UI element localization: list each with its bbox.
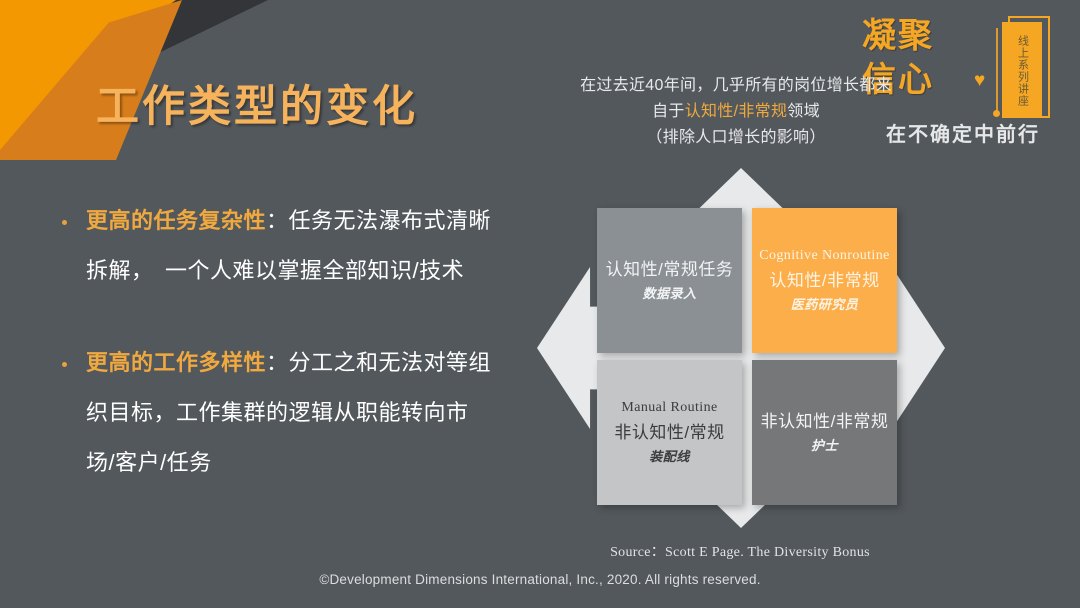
copyright-footer: ©Development Dimensions International, I… [0,572,1080,587]
matrix-caption: 在过去近40年间，几乎所有的岗位增长都来自于认知性/非常规领域 （排除人口增长的… [576,73,896,151]
source-citation: Source：Scott E Page. The Diversity Bonus [560,541,920,561]
logo-dot [993,110,1000,117]
bullet-2-separator: ： [266,350,289,375]
bullet-list: 更高的任务复杂性：任务无法瀑布式清晰拆解， 一个人难以掌握全部知识/技术 更高的… [56,196,496,530]
quadrant-example: 数据录入 [642,283,696,305]
bullet-item-1: 更高的任务复杂性：任务无法瀑布式清晰拆解， 一个人难以掌握全部知识/技术 [56,196,496,296]
quadrant-en-label: Cognitive Nonroutine [759,245,890,267]
slide-root: 工作类型的变化 凝聚 信心 ♥ 线上系列讲座 在不确定中前行 更高的任务复杂性：… [0,0,1080,608]
matrix-quadrant-top-right[interactable]: Cognitive Nonroutine 认知性/非常规 医药研究员 [752,208,897,353]
heart-icon: ♥ [974,70,996,92]
quadrant-cn-label: 非认知性/非常规 [761,409,889,435]
caption-highlight: 认知性/非常规 [685,103,788,120]
quadrant-cn-label: 认知性/常规任务 [606,257,734,283]
matrix-quadrant-top-left[interactable]: 认知性/常规任务 数据录入 [597,208,742,353]
quadrant-cn-label: 非认知性/常规 [614,420,724,446]
logo-banner-text: 线上系列讲座 [1002,28,1042,114]
quadrant-example: 装配线 [649,446,690,468]
matrix-quadrant-bottom-left[interactable]: Manual Routine 非认知性/常规 装配线 [597,360,742,505]
quadrant-example: 医药研究员 [791,294,859,316]
bullet-1-separator: ： [266,208,289,233]
logo-stem-divider [996,28,998,114]
bullet-dot-icon [62,362,67,367]
bullet-2-highlight: 更高的工作多样性 [86,350,266,375]
caption-part3: （排除人口增长的影响） [646,129,825,146]
quadrant-en-label: Manual Routine [621,397,717,419]
bullet-1-highlight: 更高的任务复杂性 [86,208,266,233]
quadrant-example: 护士 [811,435,838,457]
bullet-item-2: 更高的工作多样性：分工之和无法对等组织目标，工作集群的逻辑从职能转向市场/客户/… [56,338,496,488]
task-type-matrix: 认知性/常规任务 数据录入 Cognitive Nonroutine 认知性/非… [537,168,945,528]
bullet-dot-icon [62,220,67,225]
page-title: 工作类型的变化 [96,72,418,134]
caption-part2: 领域 [787,103,820,120]
quadrant-cn-label: 认知性/非常规 [769,268,879,294]
matrix-quadrant-bottom-right[interactable]: 非认知性/非常规 护士 [752,360,897,505]
logo-main-line1: 凝聚 [862,14,990,58]
